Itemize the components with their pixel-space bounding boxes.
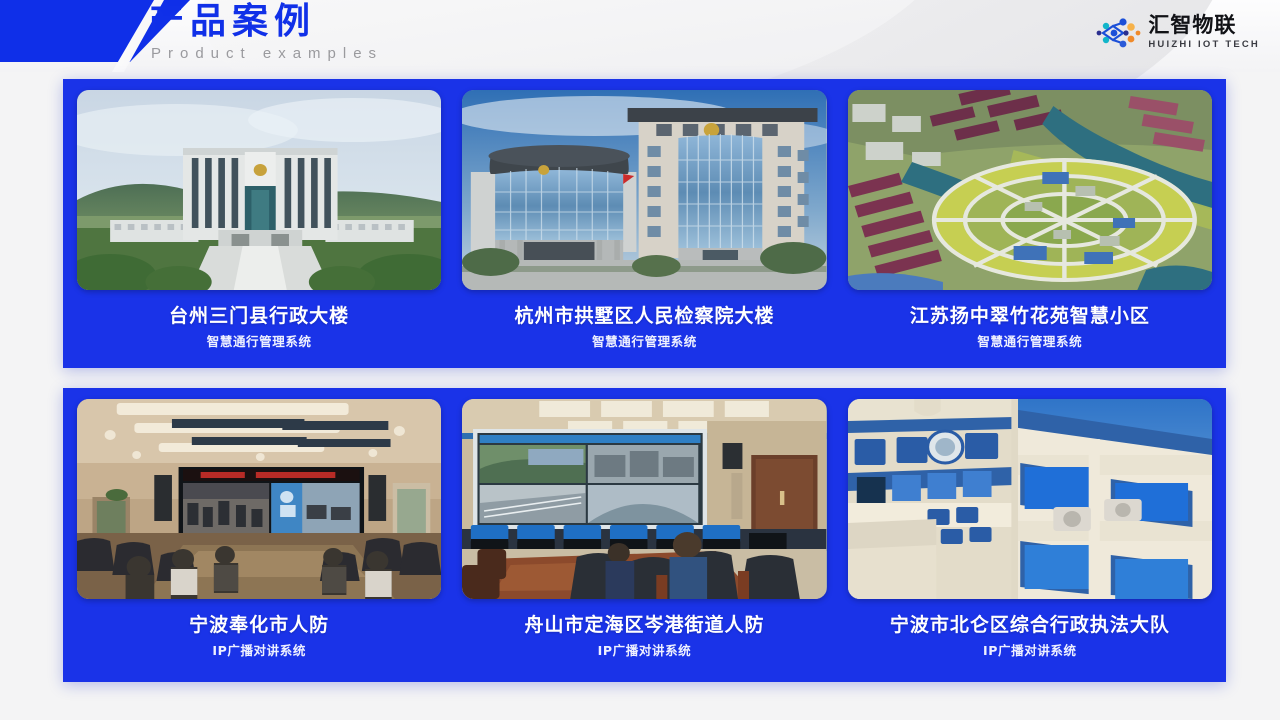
case-title: 宁波奉化市人防 xyxy=(189,613,329,637)
page-header: 产品案例 Product examples 汇智物联 HUIZHI IOT TE… xyxy=(0,0,1280,72)
control-room-monitors-photo[interactable] xyxy=(462,399,826,599)
case-panel-row-1: 台州三门县行政大楼 智慧通行管理系统 xyxy=(63,79,1226,368)
title-block: 产品案例 Product examples xyxy=(148,1,383,64)
page-subtitle: Product examples xyxy=(151,44,383,64)
case-subtitle: IP广播对讲系统 xyxy=(212,643,306,659)
case-card-grid-2: 宁波奉化市人防 IP广播对讲系统 xyxy=(63,388,1226,682)
page-title: 产品案例 xyxy=(148,1,383,43)
case-card[interactable]: 杭州市拱墅区人民检察院大楼 智慧通行管理系统 xyxy=(462,90,826,368)
brand-logo: 汇智物联 HUIZHI IOT TECH xyxy=(1095,14,1260,51)
case-title: 舟山市定海区岑港街道人防 xyxy=(524,613,764,637)
case-title: 台州三门县行政大楼 xyxy=(169,304,349,328)
case-title: 江苏扬中翠竹花苑智慧小区 xyxy=(910,304,1150,328)
case-card[interactable]: 江苏扬中翠竹花苑智慧小区 智慧通行管理系统 xyxy=(848,90,1212,368)
brand-text: 汇智物联 HUIZHI IOT TECH xyxy=(1148,14,1260,51)
case-card[interactable]: 宁波市北仑区综合行政执法大队 IP广播对讲系统 xyxy=(848,399,1212,682)
conference-room-videowall-photo[interactable] xyxy=(77,399,441,599)
case-subtitle: IP广播对讲系统 xyxy=(598,643,692,659)
enforcement-office-building-photo[interactable] xyxy=(848,399,1212,599)
brand-name-cn: 汇智物联 xyxy=(1148,14,1260,37)
case-title: 杭州市拱墅区人民检察院大楼 xyxy=(514,304,774,328)
case-title: 宁波市北仑区综合行政执法大队 xyxy=(890,613,1170,637)
case-subtitle: 智慧通行管理系统 xyxy=(592,334,697,350)
case-subtitle: 智慧通行管理系统 xyxy=(207,334,312,350)
molecule-network-icon xyxy=(1095,16,1141,50)
case-card-grid-1: 台州三门县行政大楼 智慧通行管理系统 xyxy=(63,79,1226,368)
case-card[interactable]: 舟山市定海区岑港街道人防 IP广播对讲系统 xyxy=(462,399,826,682)
case-subtitle: 智慧通行管理系统 xyxy=(977,334,1082,350)
case-subtitle: IP广播对讲系统 xyxy=(983,643,1077,659)
procuratorate-building-photo[interactable] xyxy=(462,90,826,290)
case-card[interactable]: 台州三门县行政大楼 智慧通行管理系统 xyxy=(77,90,441,368)
brand-name-en: HUIZHI IOT TECH xyxy=(1148,39,1260,51)
government-building-photo[interactable] xyxy=(77,90,441,290)
aerial-residential-district-photo[interactable] xyxy=(848,90,1212,290)
case-panel-row-2: 宁波奉化市人防 IP广播对讲系统 xyxy=(63,388,1226,682)
case-card[interactable]: 宁波奉化市人防 IP广播对讲系统 xyxy=(77,399,441,682)
